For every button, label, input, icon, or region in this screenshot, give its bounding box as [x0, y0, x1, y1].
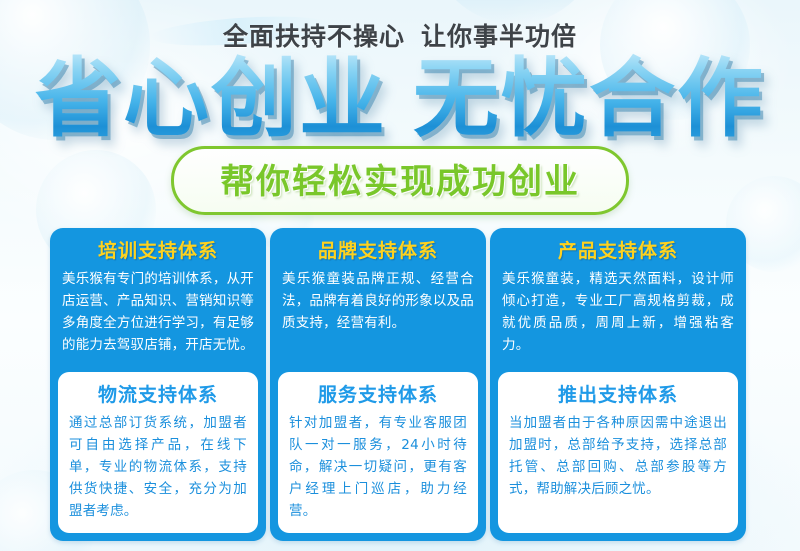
support-column-3: 产品支持体系 美乐猴童装，精选天然面料，设计师倾心打造，专业工厂高规格剪裁，成就…: [490, 228, 746, 541]
card-title: 培训支持体系: [62, 238, 254, 264]
subtitle-pill: 帮你轻松实现成功创业: [171, 146, 629, 215]
promo-poster: 全面扶持不操心让你事半功倍 省心创业无忧合作 帮你轻松实现成功创业 培训支持体系…: [0, 0, 800, 551]
page-title: 省心创业无忧合作: [0, 50, 800, 148]
card-title: 物流支持体系: [69, 382, 247, 408]
card-body: 针对加盟者，有专业客服团队一对一服务，24小时待命，解决一切疑问，更有客户经理上…: [289, 412, 467, 522]
card-title: 服务支持体系: [289, 382, 467, 408]
card-title: 推出支持体系: [509, 382, 727, 408]
support-column-2: 品牌支持体系 美乐猴童装品牌正规、经营合法，品牌有着良好的形象以及品质支持，经营…: [270, 228, 486, 541]
headline-right: 无忧合作: [413, 49, 765, 149]
card-training-support: 培训支持体系 美乐猴有专门的培训体系，从开店运营、产品知识、营销知识等多角度全方…: [50, 228, 266, 372]
tagline-left: 全面扶持不操心: [223, 22, 405, 51]
card-title: 品牌支持体系: [282, 238, 474, 264]
card-title: 产品支持体系: [502, 238, 734, 264]
card-brand-support: 品牌支持体系 美乐猴童装品牌正规、经营合法，品牌有着良好的形象以及品质支持，经营…: [270, 228, 486, 372]
card-body: 当加盟者由于各种原因需中途退出加盟时，总部给予支持，选择总部托管、总部回购、总部…: [509, 412, 727, 500]
card-logistics-support: 物流支持体系 通过总部订货系统，加盟者可自由选择产品，在线下单，专业的物流体系，…: [58, 372, 258, 533]
headline-left: 省心创业: [35, 49, 387, 149]
subtitle-text: 帮你轻松实现成功创业: [220, 154, 580, 203]
card-body: 通过总部订货系统，加盟者可自由选择产品，在线下单，专业的物流体系，支持供货快捷、…: [69, 412, 247, 522]
card-service-support: 服务支持体系 针对加盟者，有专业客服团队一对一服务，24小时待命，解决一切疑问，…: [278, 372, 478, 533]
card-product-support: 产品支持体系 美乐猴童装，精选天然面料，设计师倾心打造，专业工厂高规格剪裁，成就…: [490, 228, 746, 372]
card-body: 美乐猴有专门的培训体系，从开店运营、产品知识、营销知识等多角度全方位进行学习，有…: [62, 268, 254, 356]
card-body: 美乐猴童装品牌正规、经营合法，品牌有着良好的形象以及品质支持，经营有利。: [282, 268, 474, 334]
support-systems-grid: 培训支持体系 美乐猴有专门的培训体系，从开店运营、产品知识、营销知识等多角度全方…: [50, 228, 746, 541]
card-exit-support: 推出支持体系 当加盟者由于各种原因需中途退出加盟时，总部给予支持，选择总部托管、…: [498, 372, 738, 533]
tagline: 全面扶持不操心让你事半功倍: [0, 17, 800, 53]
tagline-right: 让你事半功倍: [421, 22, 577, 51]
card-body: 美乐猴童装，精选天然面料，设计师倾心打造，专业工厂高规格剪裁，成就优质品质，周周…: [502, 268, 734, 356]
support-column-1: 培训支持体系 美乐猴有专门的培训体系，从开店运营、产品知识、营销知识等多角度全方…: [50, 228, 266, 541]
